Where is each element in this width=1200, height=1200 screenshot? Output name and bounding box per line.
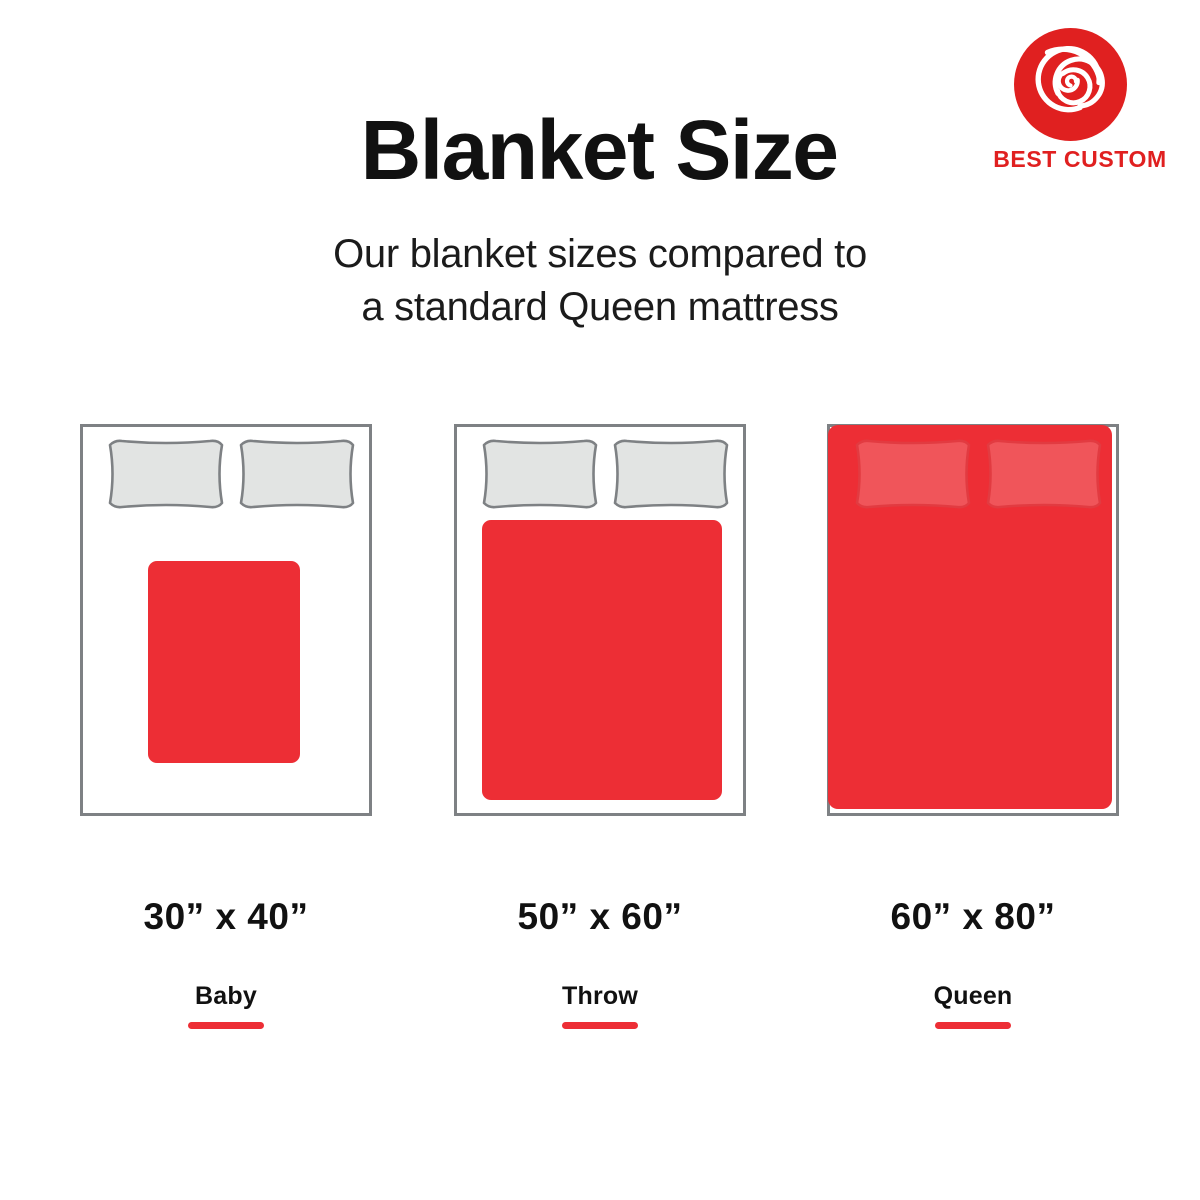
size-label: Baby [76,984,376,1009]
subtitle-line-2: a standard Queen mattress [0,281,1200,334]
pillow-icon [478,436,602,512]
blanket-baby [148,561,300,763]
accent-rule [562,1022,638,1029]
pillow-icon [982,436,1106,512]
accent-rule [935,1022,1011,1029]
pillow-icon [235,436,359,512]
infographic-page: BEST CUSTOM Blanket Size Our blanket siz… [0,0,1200,1200]
bed-diagram-baby [80,424,372,816]
caption-throw: 50” x 60” Throw [450,898,750,1029]
subtitle-line-1: Our blanket sizes compared to [0,228,1200,281]
size-dimensions: 30” x 40” [76,898,376,935]
caption-queen: 60” x 80” Queen [823,898,1123,1029]
pillow-icon [104,436,228,512]
size-dimensions: 60” x 80” [823,898,1123,935]
accent-rule [188,1022,264,1029]
pillow-icon [851,436,975,512]
caption-baby: 30” x 40” Baby [76,898,376,1029]
page-title: Blanket Size [0,108,1199,192]
bed-diagram-queen [827,424,1119,816]
blanket-throw [482,520,722,800]
size-label: Throw [450,984,750,1009]
size-label: Queen [823,984,1123,1009]
size-dimensions: 50” x 60” [450,898,750,935]
pillow-icon [609,436,733,512]
page-subtitle: Our blanket sizes compared to a standard… [0,228,1200,334]
bed-diagram-throw [454,424,746,816]
